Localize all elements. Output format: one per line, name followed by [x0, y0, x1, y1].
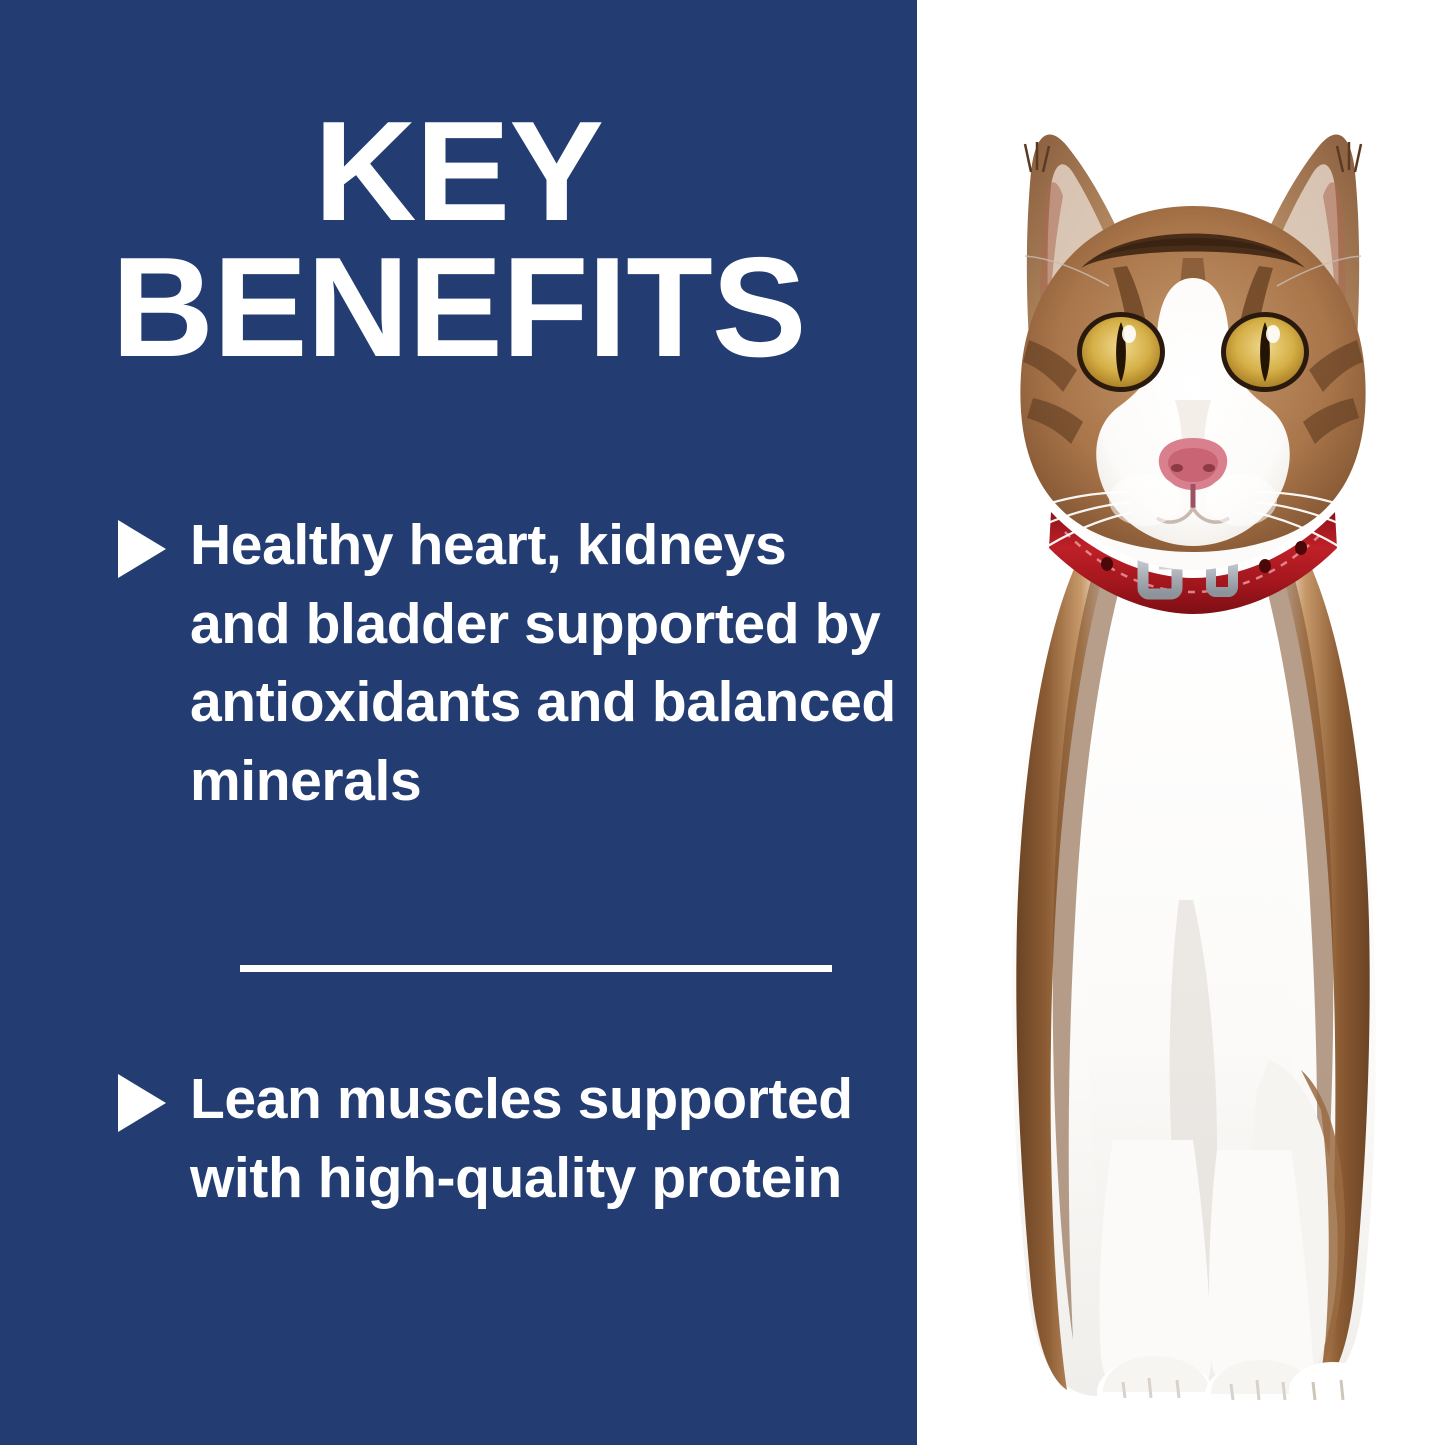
cat-photo [917, 0, 1445, 1445]
benefit-item-1-label: Healthy heart, kidneys and bladder suppo… [190, 506, 900, 821]
product-key-benefits-panel: KEY BENEFITS Healthy heart, kidneys and … [0, 0, 1445, 1445]
benefits-divider [240, 965, 832, 972]
cat-illustration [917, 0, 1445, 1445]
page-title: KEY BENEFITS [0, 104, 917, 377]
cat-eye-left [1077, 312, 1165, 392]
cat-eye-right [1221, 312, 1309, 392]
benefit-item-2: Lean muscles supported with high-quality… [110, 1060, 900, 1217]
triangle-right-icon [118, 1074, 166, 1132]
key-benefits-blue-panel: KEY BENEFITS Healthy heart, kidneys and … [0, 0, 917, 1445]
benefit-item-1: Healthy heart, kidneys and bladder suppo… [110, 506, 900, 821]
benefit-item-2-label: Lean muscles supported with high-quality… [190, 1060, 900, 1217]
triangle-right-icon [118, 520, 166, 578]
